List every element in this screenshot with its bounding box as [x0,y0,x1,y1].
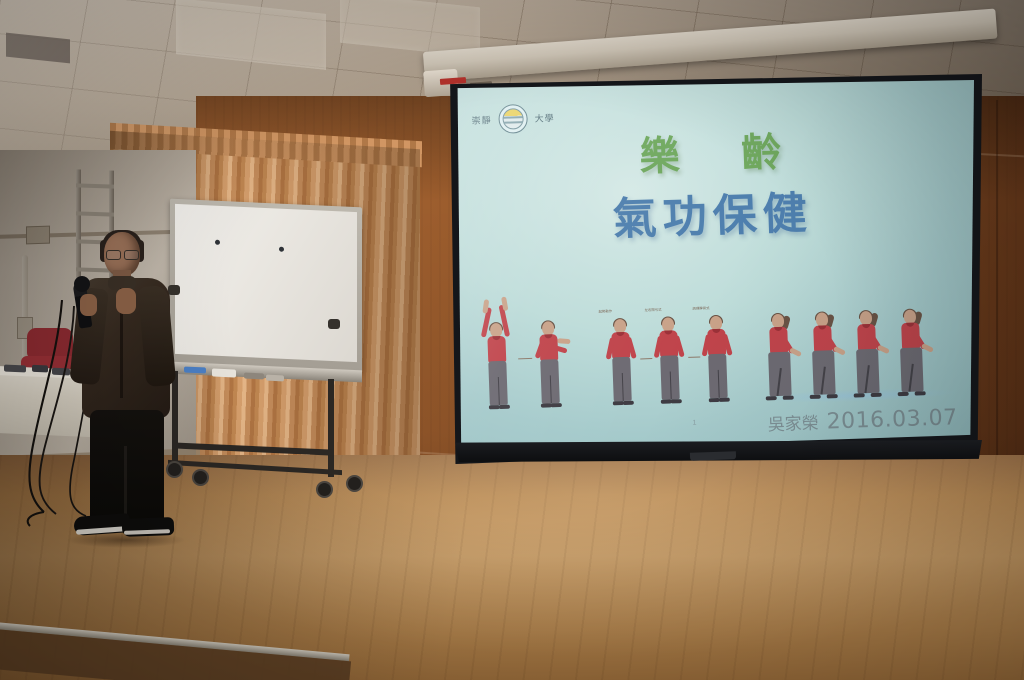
figure-shoe [766,396,777,400]
figure-shoe [783,396,794,400]
figure-shoe [810,395,821,399]
glasses-lens [124,250,139,260]
whiteboard-marker[interactable] [244,373,264,380]
figure-forearm [921,344,934,353]
illustration-arm-raise-pair [481,321,566,408]
figure-arms-overhead [481,323,514,408]
figure-forearm [877,345,890,354]
figure-forearm [789,348,802,357]
projection-screen-surface[interactable]: 崇靜 大學 樂 齡 氣功保健 [455,80,974,452]
slide-page-number: 1 [692,420,696,427]
figure-shoe [623,401,634,405]
seal-inner [502,108,524,130]
ladder-rung [76,211,114,216]
figure-shoe [499,405,510,409]
figure-hands-on-hips: 調理脾胃式 [701,315,734,400]
figure-motion-arrow [640,358,652,359]
figure-shoe [898,392,909,396]
projection-screen-pull-tab[interactable] [690,451,736,461]
figure-walking [807,312,840,397]
slide-footer: 吳家榮 2016.03.07 [767,404,958,436]
whiteboard-caster [346,475,363,492]
figure-shoe [915,391,926,395]
whiteboard-eraser[interactable] [212,368,236,377]
speaker-hand-holding-mic [80,294,97,316]
figure-shoe [854,393,865,397]
whiteboard-pivot-knob[interactable] [328,319,340,329]
speaker-trousers [90,410,164,528]
figure-hands-on-hips: 起勢動作 [605,319,638,404]
whiteboard-crossbar [172,442,332,455]
figure-shoe [827,394,838,398]
whiteboard-magnet [279,247,284,252]
figure-walking [851,311,884,396]
glasses-lens [106,250,121,260]
speaker [60,232,190,552]
figure-arms-forward [533,321,566,406]
figure-hands-on-hips: 左右開弓式 [653,317,686,402]
figure-shoe [551,403,562,407]
mobile-whiteboard[interactable] [170,203,362,503]
whiteboard-leg [328,379,334,477]
ladder-rung [76,183,114,188]
figure-forearm [557,339,570,344]
figure-motion-arrow [688,357,700,358]
figure-label: 起勢動作 [598,308,612,313]
slide-content: 崇靜 大學 樂 齡 氣功保健 [455,80,974,452]
figure-shoe [719,398,730,402]
whiteboard-magnet [215,240,220,245]
whiteboard-caster [316,481,333,498]
whiteboard-caster [192,469,209,486]
figure-label: 左右開弓式 [644,307,661,313]
presentation-date: 2016.03.07 [826,405,958,434]
speaker-gesturing-hand [116,288,136,314]
logo-right-text: 大學 [534,111,554,125]
whiteboard-surface[interactable] [175,204,357,362]
figure-walking [895,309,928,394]
illustration-hands-on-hips-trio: 起勢動作 左右開弓式 [605,315,734,403]
figure-forearm [833,346,846,355]
glasses-icon [106,250,139,258]
figure-shoe [871,393,882,397]
figure-label: 調理脾胃式 [692,305,709,311]
whiteboard-marker[interactable] [266,375,284,382]
logo-left-text: 崇靜 [471,113,491,127]
figure-walking [763,313,796,398]
presenter-name: 吳家榮 [767,409,819,436]
figure-shoe [671,399,682,403]
illustration-walking-quartet [763,309,928,398]
lecture-hall-photo: 崇靜 大學 樂 齡 氣功保健 [0,0,1024,680]
figure-motion-arrow [518,358,532,359]
